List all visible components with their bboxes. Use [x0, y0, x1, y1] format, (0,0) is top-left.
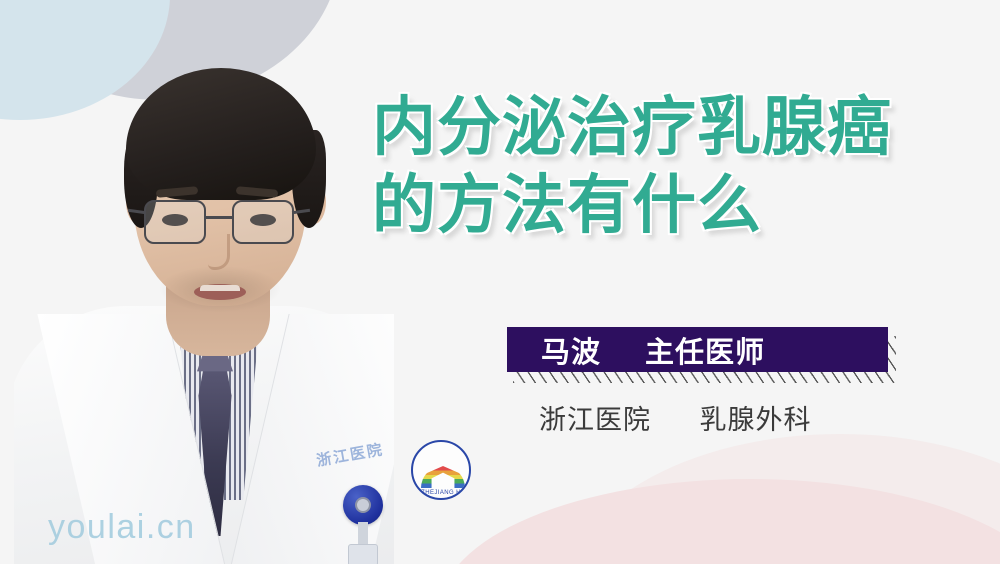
- eyeglasses-bridge: [206, 216, 232, 219]
- badge-card: [348, 544, 378, 564]
- doctor-portrait: [14, 38, 394, 564]
- thumbnail-canvas: 浙江医院 ZHEJIANG H 内分泌治疗乳腺癌 的方法有什么 马波 主任医师 …: [0, 0, 1000, 564]
- doctor-name-banner: 马波 主任医师: [507, 327, 907, 389]
- title-line-2: 的方法有什么: [372, 166, 972, 244]
- hospital-logo-patch-icon: ZHEJIANG H: [411, 440, 471, 500]
- nose: [208, 234, 230, 270]
- doctor-name: 马波: [541, 329, 601, 371]
- doctor-affiliation: 浙江医院 乳腺外科: [539, 398, 812, 437]
- hair: [126, 68, 316, 200]
- department-name: 乳腺外科: [700, 405, 812, 435]
- teeth: [200, 285, 240, 291]
- hospital-name: 浙江医院: [539, 405, 651, 435]
- title-line-1: 内分泌治疗乳腺癌: [372, 88, 972, 166]
- badge-reel-center-icon: [355, 497, 371, 513]
- rainbow-icon: [421, 466, 465, 488]
- doctor-professional-title: 主任医师: [645, 329, 765, 371]
- hospital-logo-text: ZHEJIANG H: [413, 490, 469, 496]
- name-banner-bar: 马波 主任医师: [507, 327, 888, 372]
- eyeglasses-lens-left: [144, 200, 206, 244]
- eyeglasses-lens-right: [232, 200, 294, 244]
- page-title: 内分泌治疗乳腺癌 的方法有什么: [372, 88, 972, 244]
- site-watermark: youlai.cn: [48, 508, 196, 547]
